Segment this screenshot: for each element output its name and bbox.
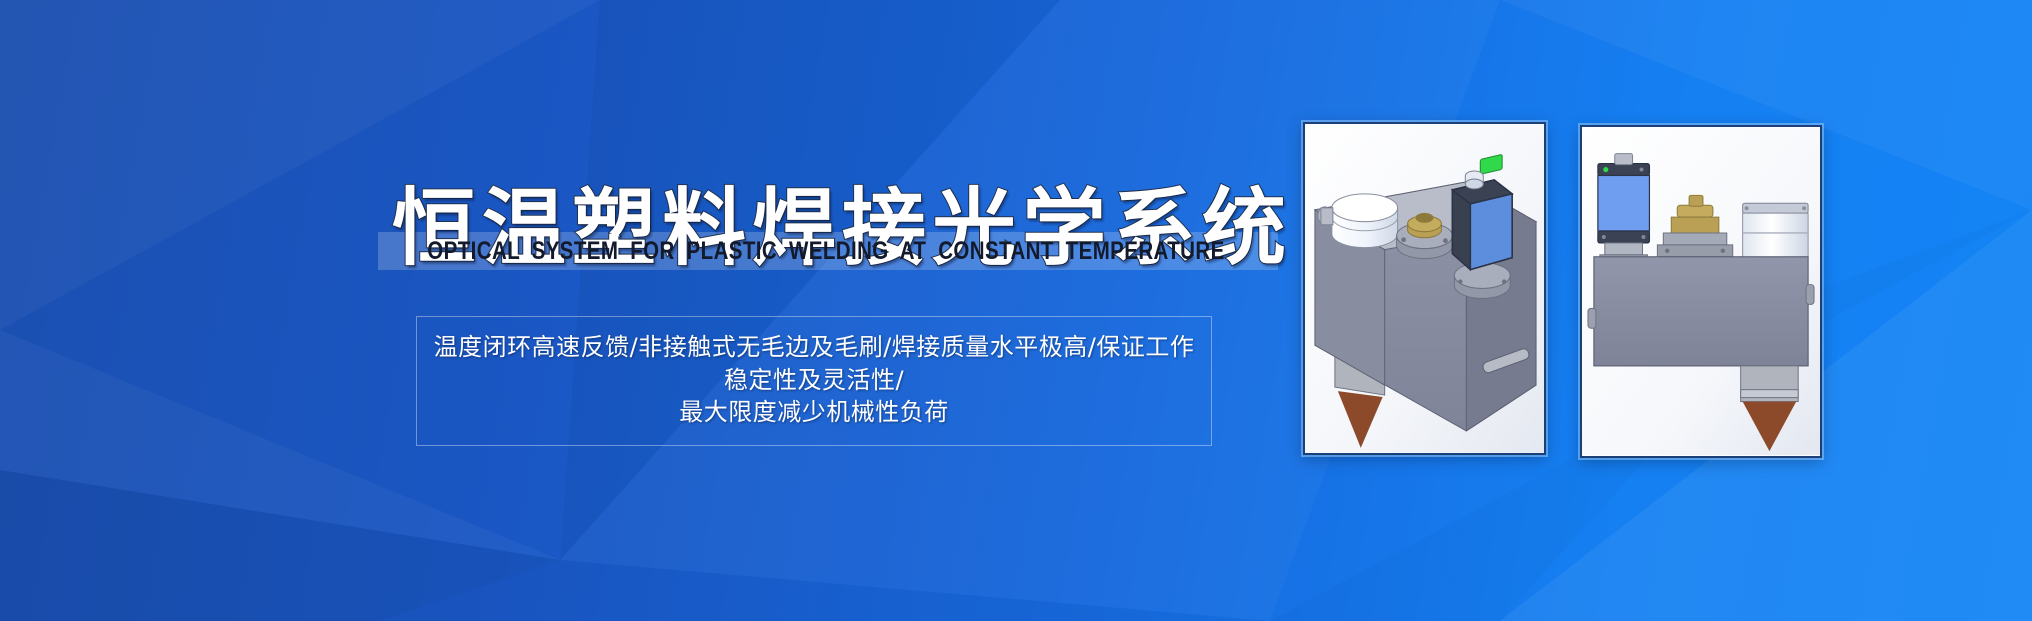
subtitle-line-2: 最大限度减少机械性负荷 (429, 396, 1199, 429)
promo-banner: 恒温塑料焊接光学系统 OPTICAL SYSTEM FOR PLASTIC WE… (0, 0, 2032, 621)
welding-head-front-illustration (1582, 127, 1820, 456)
welding-head-isometric-illustration (1305, 124, 1544, 453)
subtitle-line-1: 温度闭环高速反馈/非接触式无毛边及毛刷/焊接质量水平极高/保证工作稳定性及灵活性… (429, 331, 1199, 396)
headline-block: 恒温塑料焊接光学系统 OPTICAL SYSTEM FOR PLASTIC WE… (392, 186, 1260, 406)
page-title-english: OPTICAL SYSTEM FOR PLASTIC WELDING AT CO… (470, 232, 1182, 270)
subtitle-panel: 温度闭环高速反馈/非接触式无毛边及毛刷/焊接质量水平极高/保证工作稳定性及灵活性… (416, 316, 1212, 446)
title-stack: 恒温塑料焊接光学系统 OPTICAL SYSTEM FOR PLASTIC WE… (392, 186, 1260, 314)
product-image-isometric[interactable] (1303, 122, 1546, 455)
product-image-front[interactable] (1580, 125, 1822, 458)
